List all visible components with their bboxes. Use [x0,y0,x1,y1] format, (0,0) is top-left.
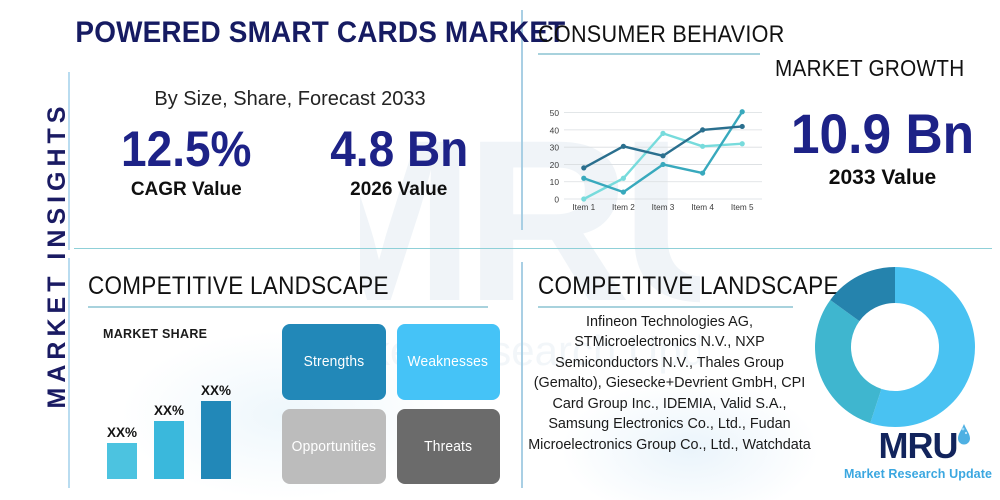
divider-horizontal [74,248,992,249]
consumer-behavior-section-header: CONSUMER BEHAVIOR [538,21,812,55]
kpi-row: 12.5% CAGR Value 4.8 Bn 2026 Value [80,122,505,227]
market-share-bar-chart: XX%XX%XX% [95,335,260,483]
swot-box-threats[interactable]: Threats [397,409,501,485]
swot-box-weaknesses[interactable]: Weaknesses [397,324,501,400]
swot-box-label-strengths: Strengths [303,353,364,370]
svg-text:40: 40 [550,125,560,135]
consumer-behavior-line-chart: 01020304050Item 1Item 2Item 3Item 4Item … [536,96,768,221]
svg-text:XX%: XX% [154,403,184,418]
svg-text:10: 10 [550,177,560,187]
svg-text:Item 4: Item 4 [691,203,714,212]
kpi-2026: 4.8 Bn 2026 Value [293,122,506,227]
svg-text:30: 30 [550,143,560,153]
svg-text:Item 5: Item 5 [731,203,754,212]
svg-text:0: 0 [554,194,559,204]
kpi-cagr-label: CAGR Value [80,179,293,201]
kpi-2033-value: 10.9 Bn [784,105,982,164]
kpi-cagr-value: 12.5% [89,122,285,177]
competitive-landscape-left-underline [88,306,488,308]
svg-text:Item 3: Item 3 [652,203,675,212]
swot-box-opportunities[interactable]: Opportunities [282,409,386,485]
kpi-cagr: 12.5% CAGR Value [80,122,293,227]
page-subtitle: By Size, Share, Forecast 2033 [80,88,500,111]
market-share-donut-chart [812,264,978,430]
svg-text:Item 1: Item 1 [572,203,595,212]
water-drop-icon [957,424,971,446]
kpi-2026-value: 4.8 Bn [301,122,497,177]
swot-box-label-weaknesses: Weaknesses [408,353,489,370]
svg-text:XX%: XX% [201,383,231,398]
swot-box-strengths[interactable]: Strengths [282,324,386,400]
svg-text:Item 2: Item 2 [612,203,635,212]
brand-logo-tagline: Market Research Update [843,467,993,481]
kpi-2033: 10.9 Bn 2033 Value [775,105,990,190]
page-title: POWERED SMART CARDS MARKET [75,16,484,50]
infographic-root: MRU Market Research Update MARKET INSIGH… [0,0,1000,500]
competitive-landscape-right-title: COMPETITIVE LANDSCAPE [538,272,839,301]
swot-grid: StrengthsWeaknessesOpportunitiesThreats [282,324,500,484]
svg-text:XX%: XX% [107,425,137,440]
market-growth-label: MARKET GROWTH [775,55,964,82]
swot-box-label-threats: Threats [424,438,472,455]
consumer-behavior-underline [538,53,760,55]
swot-box-label-opportunities: Opportunities [292,438,376,455]
kpi-2033-label: 2033 Value [775,166,990,190]
competitive-landscape-right-underline [538,306,793,308]
side-rail: MARKET INSIGHTS [37,105,77,405]
competitive-landscape-left-title: COMPETITIVE LANDSCAPE [88,272,448,301]
brand-logo: MRU Market Research Update [843,428,993,490]
kpi-2026-label: 2026 Value [293,179,506,201]
competitive-landscape-left-header: COMPETITIVE LANDSCAPE [88,272,488,308]
svg-text:20: 20 [550,160,560,170]
divider-vertical-center-bottom [521,262,523,488]
company-list: Infineon Technologies AG, STMicroelectro… [527,312,812,455]
side-rail-label: MARKET INSIGHTS [43,102,72,409]
svg-text:50: 50 [550,108,560,118]
consumer-behavior-title: CONSUMER BEHAVIOR [538,21,785,49]
